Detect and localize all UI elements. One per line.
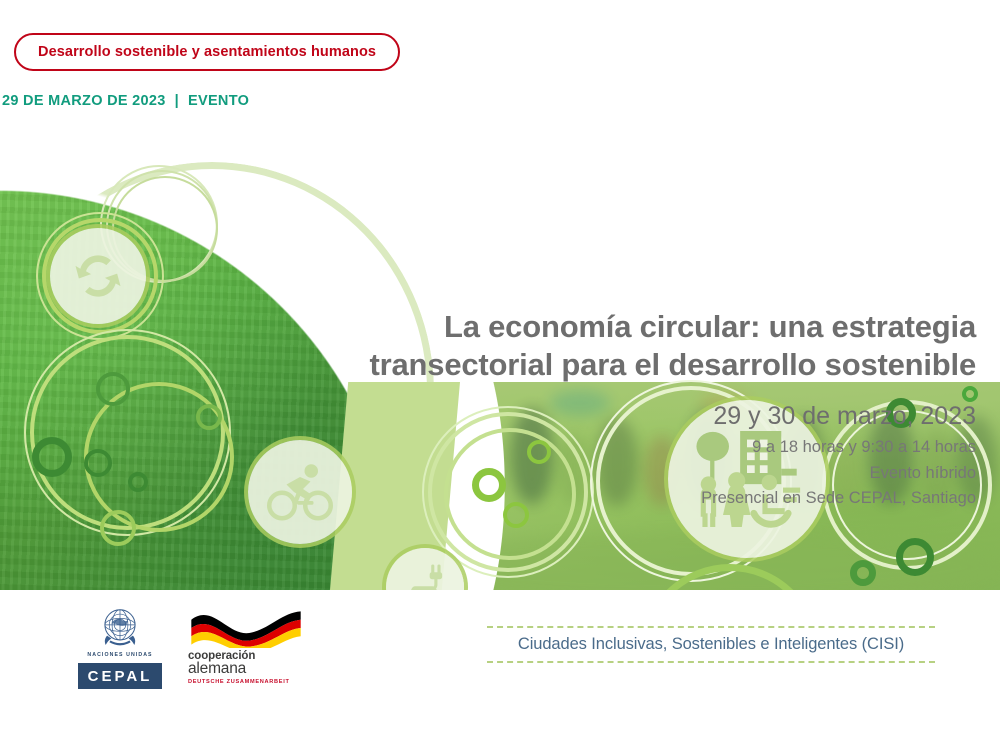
hero-venue: Presencial en Sede CEPAL, Santiago [316, 486, 976, 512]
program-caption-text: Ciudades Inclusivas, Sostenibles e Intel… [487, 635, 935, 654]
hero-hours: 9 a 18 horas y 9:30 a 14 horas [316, 435, 976, 461]
decorative-ring [850, 560, 876, 586]
german-logo-line-3: DEUTSCHE ZUSAMMENARBEIT [188, 679, 290, 685]
hero-banner: La economía circular: una estrategia tra… [0, 150, 1000, 590]
decorative-ring [128, 472, 148, 492]
footer: NACIONES UNIDAS CEPAL cooperación aleman… [0, 590, 1000, 736]
recycle-icon-bubble [50, 228, 146, 324]
decorative-ring [32, 437, 72, 477]
decorative-ring [896, 538, 934, 576]
german-cooperation-logo: cooperación alemana DEUTSCHE ZUSAMMENARB… [188, 604, 308, 685]
topic-tag-label: Desarrollo sostenible y asentamientos hu… [38, 44, 376, 60]
un-cepal-logo: NACIONES UNIDAS CEPAL [78, 604, 162, 689]
event-announcement-page: Desarrollo sostenible y asentamientos hu… [0, 0, 1000, 736]
decorative-ring [84, 449, 112, 477]
hero-title-line-1: La economía circular: una estrategia [316, 308, 976, 346]
un-caption: NACIONES UNIDAS [87, 652, 152, 658]
decorative-ring [100, 510, 136, 546]
event-type: EVENTO [188, 93, 249, 109]
hero-modality: Evento híbrido [316, 461, 976, 487]
event-date: 29 DE MARZO DE 2023 [2, 93, 166, 109]
hero-dates: 29 y 30 de marzo, 2023 [316, 398, 976, 436]
event-meta-line: 29 DE MARZO DE 2023 | EVENTO [2, 93, 249, 109]
topbar: Desarrollo sostenible y asentamientos hu… [0, 0, 1000, 150]
decorative-ring [96, 372, 130, 406]
german-flag-ribbon-icon [188, 608, 304, 648]
logo-group: NACIONES UNIDAS CEPAL cooperación aleman… [78, 604, 308, 689]
united-nations-emblem-icon [97, 604, 143, 650]
program-caption: Ciudades Inclusivas, Sostenibles e Intel… [487, 626, 935, 663]
recycle-icon [68, 246, 128, 306]
decorative-ring [196, 404, 222, 430]
cepal-wordmark: CEPAL [78, 663, 162, 689]
meta-separator: | [175, 93, 179, 109]
hero-title-line-2: transectorial para el desarrollo sosteni… [316, 346, 976, 384]
hero-title-block: La economía circular: una estrategia tra… [316, 308, 976, 512]
topic-tag-pill[interactable]: Desarrollo sostenible y asentamientos hu… [14, 33, 400, 71]
german-logo-line-2: alemana [188, 660, 246, 678]
electric-car-icon [397, 561, 453, 590]
